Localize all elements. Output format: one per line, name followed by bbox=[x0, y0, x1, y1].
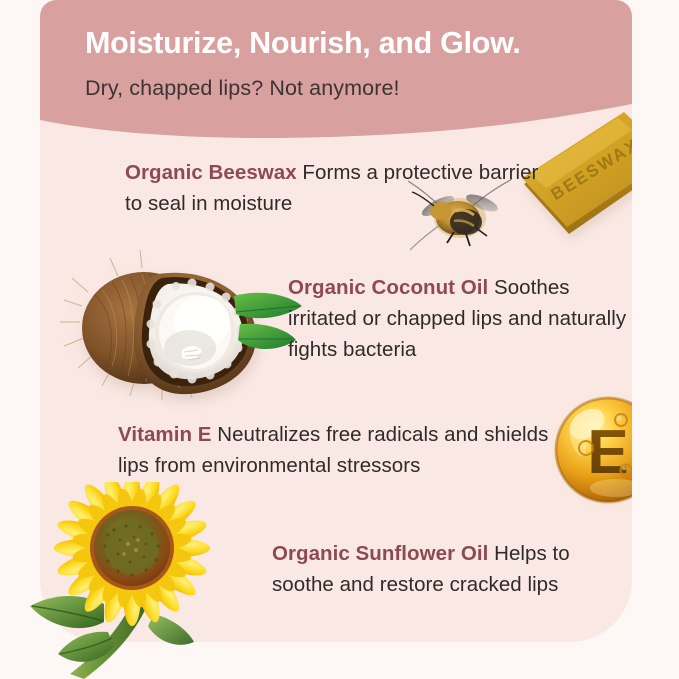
benefit-text-beeswax: Organic Beeswax Forms a protective barri… bbox=[125, 157, 545, 219]
benefit-lead-sunflower: Organic Sunflower Oil bbox=[272, 542, 488, 565]
headline: Moisturize, Nourish, and Glow. bbox=[85, 26, 521, 61]
coconut-half-image bbox=[58, 244, 318, 412]
benefit-lead-vitamin-e: Vitamin E bbox=[118, 423, 212, 446]
benefit-text-vitamin-e: Vitamin E Neutralizes free radicals and … bbox=[118, 419, 568, 481]
sunflower-image bbox=[8, 482, 244, 679]
benefit-text-sunflower: Organic Sunflower Oil Helps to soothe an… bbox=[272, 538, 632, 600]
vitamin-e-capsule-label: E bbox=[587, 418, 628, 487]
product-benefits-infographic: Moisturize, Nourish, and Glow. Dry, chap… bbox=[0, 0, 679, 679]
benefit-text-coconut: Organic Coconut Oil Soothes irritated or… bbox=[288, 272, 628, 365]
benefit-lead-beeswax: Organic Beeswax bbox=[125, 161, 297, 184]
subheadline: Dry, chapped lips? Not anymore! bbox=[85, 76, 400, 101]
benefit-lead-coconut: Organic Coconut Oil bbox=[288, 276, 488, 299]
